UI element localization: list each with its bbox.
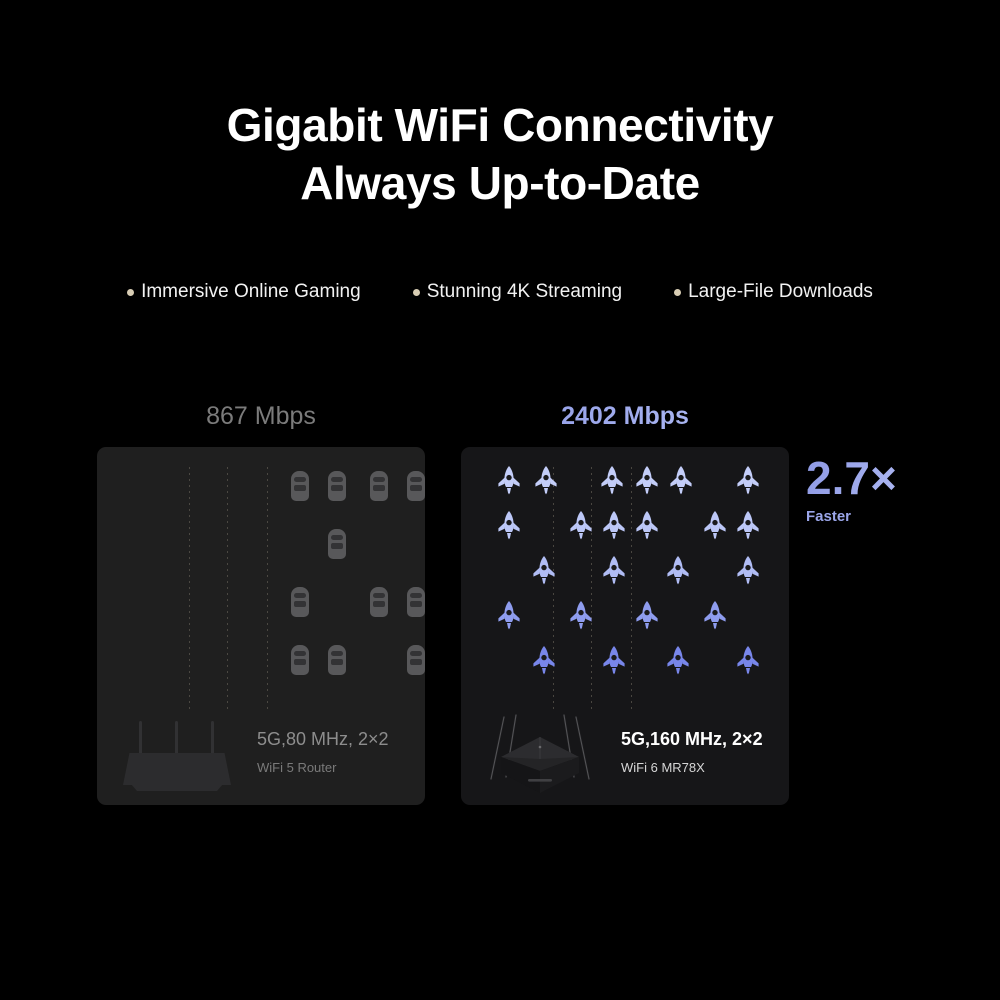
car-icon <box>291 587 309 617</box>
car-icon <box>291 471 309 501</box>
lane-divider <box>189 467 190 713</box>
car-icon <box>291 645 309 675</box>
new-router-icon <box>475 707 605 801</box>
bullet-dot-icon <box>127 289 134 296</box>
rocket-icon <box>496 600 522 630</box>
feature-item-gaming: Immersive Online Gaming <box>127 281 361 303</box>
page-title-line-2: Always Up-to-Date <box>0 154 1000 212</box>
comparison-panel-wifi5: 5G,80 MHz, 2×2 WiFi 5 Router <box>97 447 425 805</box>
rocket-icon <box>531 555 557 585</box>
feature-label: Stunning 4K Streaming <box>427 281 622 303</box>
feature-list: Immersive Online Gaming Stunning 4K Stre… <box>0 281 1000 303</box>
lane-divider <box>267 467 268 713</box>
rocket-icon <box>533 465 559 495</box>
rocket-icon <box>601 555 627 585</box>
rocket-traffic-grid <box>461 447 789 707</box>
rocket-icon <box>531 645 557 675</box>
rocket-icon <box>702 510 728 540</box>
bullet-dot-icon <box>674 289 681 296</box>
multiplier-label: Faster <box>806 507 956 527</box>
rocket-icon <box>496 510 522 540</box>
rocket-icon <box>496 465 522 495</box>
lane-divider <box>227 467 228 713</box>
rocket-icon <box>735 510 761 540</box>
rocket-icon <box>568 510 594 540</box>
page-title-line-1: Gigabit WiFi Connectivity <box>0 96 1000 154</box>
lane-divider <box>631 467 632 713</box>
car-traffic-grid <box>97 447 425 707</box>
rocket-icon <box>702 600 728 630</box>
router-row-wifi5: 5G,80 MHz, 2×2 WiFi 5 Router <box>97 707 425 805</box>
router-caption-wifi5: 5G,80 MHz, 2×2 WiFi 5 Router <box>257 727 389 778</box>
car-icon <box>328 529 346 559</box>
speed-multiplier-callout: 2.7× Faster <box>806 452 956 527</box>
car-icon <box>370 471 388 501</box>
page-title: Gigabit WiFi Connectivity Always Up-to-D… <box>0 96 1000 212</box>
rocket-icon <box>568 600 594 630</box>
router-device-name: WiFi 6 MR78X <box>621 758 763 778</box>
rocket-icon <box>599 465 625 495</box>
speed-label-wifi5: 867 Mbps <box>97 400 425 432</box>
router-spec: 5G,80 MHz, 2×2 <box>257 727 389 751</box>
router-caption-wifi6: 5G,160 MHz, 2×2 WiFi 6 MR78X <box>621 727 763 778</box>
router-device-name: WiFi 5 Router <box>257 758 389 778</box>
rocket-icon <box>634 600 660 630</box>
rocket-icon <box>668 465 694 495</box>
feature-item-streaming: Stunning 4K Streaming <box>413 281 622 303</box>
lane-divider <box>591 467 592 713</box>
car-icon <box>328 471 346 501</box>
comparison-panel-wifi6: 5G,160 MHz, 2×2 WiFi 6 MR78X <box>461 447 789 805</box>
car-icon <box>407 645 425 675</box>
rocket-icon <box>665 555 691 585</box>
rocket-icon <box>634 510 660 540</box>
feature-item-downloads: Large-File Downloads <box>674 281 873 303</box>
lane-divider <box>553 467 554 713</box>
rocket-icon <box>634 465 660 495</box>
car-icon <box>370 587 388 617</box>
car-icon <box>407 471 425 501</box>
old-router-icon <box>121 719 233 791</box>
rocket-icon <box>735 465 761 495</box>
rocket-icon <box>601 510 627 540</box>
multiplier-value: 2.7× <box>806 452 956 504</box>
rocket-icon <box>735 555 761 585</box>
router-row-wifi6: 5G,160 MHz, 2×2 WiFi 6 MR78X <box>461 707 789 805</box>
feature-label: Large-File Downloads <box>688 281 873 303</box>
car-icon <box>407 587 425 617</box>
rocket-icon <box>601 645 627 675</box>
speed-label-wifi6: 2402 Mbps <box>461 400 789 432</box>
bullet-dot-icon <box>413 289 420 296</box>
feature-label: Immersive Online Gaming <box>141 281 361 303</box>
rocket-icon <box>735 645 761 675</box>
rocket-icon <box>665 645 691 675</box>
router-spec: 5G,160 MHz, 2×2 <box>621 727 763 751</box>
car-icon <box>328 645 346 675</box>
